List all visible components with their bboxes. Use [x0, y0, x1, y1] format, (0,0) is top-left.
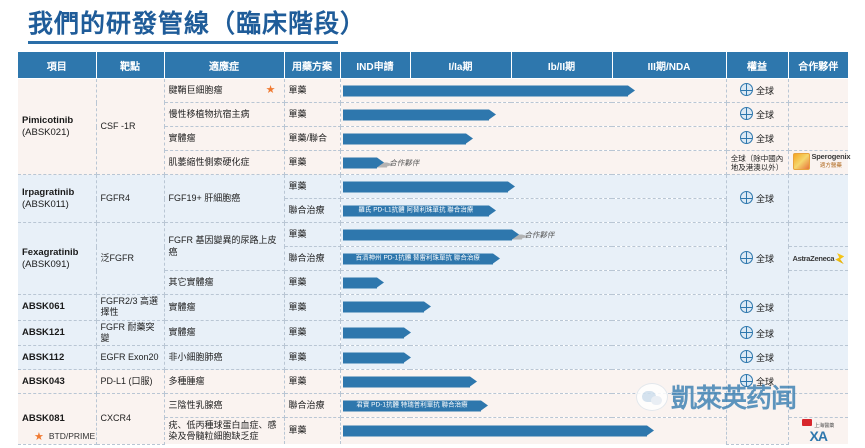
cell-regimen: 單藥 [284, 320, 340, 346]
progress-bar [343, 327, 405, 338]
col-header-phase2: Ib/II期 [511, 52, 612, 79]
table-row: Irpagratinib(ABSK011)FGFR4FGF19+ 肝細胞癌單藥全… [18, 175, 848, 199]
cell-regimen: 聯合治療 [284, 247, 340, 271]
cell-target: EGFR Exon20 [96, 346, 164, 370]
cell-target: 泛FGFR [96, 223, 164, 295]
bar-track [341, 321, 726, 346]
table-row: ABSK043PD-L1 (口服)多種腫瘤單藥全球 [18, 370, 848, 394]
cell-indication: 三陰性乳腺癌 [164, 394, 284, 418]
cell-regimen: 單藥 [284, 79, 340, 103]
cell-project: ABSK043 [18, 370, 96, 394]
btd-star-icon: ★ [266, 85, 276, 96]
bar-track [341, 103, 726, 126]
progress-bar [343, 133, 467, 144]
cell-project: Fexagratinib(ABSK091) [18, 223, 96, 295]
cell-regimen: 單藥/聯合 [284, 127, 340, 151]
rights-label: 全球 [756, 329, 774, 340]
project-name: Pimicotinib(ABSK021) [22, 115, 92, 139]
bar-track [341, 79, 726, 102]
cell-regimen: 單藥 [284, 151, 340, 175]
cell-regimen: 單藥 [284, 175, 340, 199]
cell-indication: 實體瘤 [164, 320, 284, 346]
star-icon: ★ [34, 431, 44, 443]
table-row: Pimicotinib(ABSK021)CSF -1R★腱鞘巨細胞瘤單藥全球 [18, 79, 848, 103]
project-name: ABSK043 [22, 376, 65, 387]
col-header-target: 靶點 [96, 52, 164, 79]
rights-label: 全球（除中國內地及港澳以外） [731, 154, 784, 172]
cell-rights: 全球 [726, 223, 788, 295]
bar-track: 百濟神州 PD-1抗體 替雷利珠單抗 聯合治療 [341, 247, 726, 270]
bar-track [341, 127, 726, 150]
globe-icon [740, 326, 753, 339]
partner-logo-spero: Sperogenix適方醫藥 [793, 152, 851, 170]
cell-phase-bar: 羅氏 PD-L1抗體 阿替利珠單抗 聯合治療 [340, 199, 726, 223]
project-name: ABSK112 [22, 352, 64, 363]
progress-bar [343, 277, 378, 288]
globe-icon [740, 107, 753, 120]
cell-project: ABSK121 [18, 320, 96, 346]
cell-phase-bar: 合作夥伴 [340, 151, 726, 175]
bar-track [341, 370, 726, 393]
table-row: ABSK112EGFR Exon20非小細胞肺癌單藥全球 [18, 346, 848, 370]
progress-bar [343, 109, 490, 120]
cell-rights: 全球 [726, 127, 788, 151]
bar-note: 合作夥伴 [389, 158, 419, 167]
pipeline-table-body: Pimicotinib(ABSK021)CSF -1R★腱鞘巨細胞瘤單藥全球慢性… [18, 79, 848, 445]
cell-partner: Sperogenix適方醫藥 [788, 151, 848, 175]
cell-phase-bar [340, 271, 726, 295]
cell-indication: 疣、低丙種球蛋白血症、感染及骨髓粒細胞缺乏症 [164, 418, 284, 445]
cell-rights: 全球 [726, 103, 788, 127]
cell-rights: 全球 [726, 79, 788, 103]
project-name: Irpagratinib(ABSK011) [22, 187, 92, 211]
rights-label: 全球 [756, 194, 774, 205]
col-header-rights: 權益 [726, 52, 788, 79]
cell-project: Irpagratinib(ABSK011) [18, 175, 96, 223]
progress-bar [343, 352, 405, 363]
progress-bar [343, 376, 470, 387]
cell-phase-bar [340, 370, 726, 394]
col-header-regimen: 用藥方案 [284, 52, 340, 79]
globe-icon [740, 131, 753, 144]
footnote-label: BTD/PRIME [49, 431, 95, 441]
cell-rights: 全球 [726, 175, 788, 223]
cell-regimen: 單藥 [284, 271, 340, 295]
cell-project: ABSK112 [18, 346, 96, 370]
table-row: ABSK061FGFR2/3 高選擇性實體瘤單藥全球 [18, 295, 848, 321]
progress-bar: 羅氏 PD-L1抗體 阿替利珠單抗 聯合治療 [343, 205, 490, 216]
col-header-partner: 合作夥伴 [788, 52, 848, 79]
cell-partner: AstraZeneca [788, 247, 848, 271]
bar-track: 君實 PD-1抗體 特瑞普利單抗 聯合治療 [341, 394, 726, 417]
bar-label: 君實 PD-1抗體 特瑞普利單抗 聯合治療 [343, 401, 482, 409]
partner-logo-astrazeneca: AstraZeneca [793, 253, 845, 264]
bar-track [341, 271, 726, 294]
cell-partner [788, 394, 848, 418]
bar-track [341, 346, 726, 369]
globe-icon [740, 83, 753, 96]
cell-indication: 多種腫瘤 [164, 370, 284, 394]
cell-partner [788, 79, 848, 103]
cell-phase-bar [340, 320, 726, 346]
cell-phase-bar [340, 175, 726, 199]
cell-phase-bar [340, 79, 726, 103]
cell-phase-bar [340, 127, 726, 151]
cell-target: CSF -1R [96, 79, 164, 175]
cell-project: Pimicotinib(ABSK021) [18, 79, 96, 175]
cell-indication: 肌萎縮性側索硬化症 [164, 151, 284, 175]
cell-regimen: 單藥 [284, 223, 340, 247]
project-code: (ABSK011) [22, 199, 92, 211]
cell-target: CXCR4 [96, 394, 164, 445]
cell-regimen: 聯合治療 [284, 394, 340, 418]
globe-icon [740, 300, 753, 313]
rights-label: 全球 [756, 110, 774, 121]
rights-label: 全球 [756, 254, 774, 265]
cell-indication: ★腱鞘巨細胞瘤 [164, 79, 284, 103]
flag-icon [802, 419, 812, 426]
spero-mark-icon [793, 153, 810, 170]
progress-bar [343, 157, 378, 168]
partner-logo-xa: 上海醫藥XA [802, 419, 834, 443]
col-header-ind: IND申請 [340, 52, 410, 79]
cell-target: FGFR 耐藥突變 [96, 320, 164, 346]
rights-label: 全球 [756, 377, 774, 388]
progress-bar: 百濟神州 PD-1抗體 替雷利珠單抗 聯合治療 [343, 253, 494, 264]
cell-partner [788, 271, 848, 295]
progress-bar [343, 229, 513, 240]
cell-rights: 全球（除中國內地及港澳以外） [726, 151, 788, 175]
table-header-row: 項目 靶點 適應症 用藥方案 IND申請 I/Ia期 Ib/II期 III期/N… [18, 52, 848, 79]
cell-phase-bar [340, 418, 726, 445]
pipeline-table: 項目 靶點 適應症 用藥方案 IND申請 I/Ia期 Ib/II期 III期/N… [18, 52, 848, 445]
globe-icon [740, 374, 753, 387]
pipeline-slide: 我們的研發管線（臨床階段） 項目 靶點 適應症 用藥方案 IND申請 I/Ia期… [0, 0, 865, 448]
globe-icon [740, 191, 753, 204]
col-header-indication: 適應症 [164, 52, 284, 79]
bar-track: 合作夥伴 [341, 151, 726, 174]
cell-partner [788, 320, 848, 346]
cell-indication: 慢性移植物抗宿主病 [164, 103, 284, 127]
cell-indication: 非小細胞肺癌 [164, 346, 284, 370]
cell-phase-bar [340, 346, 726, 370]
cell-partner [788, 370, 848, 394]
cell-phase-bar: 君實 PD-1抗體 特瑞普利單抗 聯合治療 [340, 394, 726, 418]
cell-indication: 實體瘤 [164, 127, 284, 151]
project-name: ABSK061 [22, 301, 65, 312]
bar-track [341, 175, 726, 198]
cell-partner [788, 223, 848, 247]
cell-partner [788, 103, 848, 127]
cell-partner [788, 127, 848, 151]
astrazeneca-swoosh-icon [835, 253, 844, 264]
rights-label: 全球 [756, 134, 774, 145]
col-header-project: 項目 [18, 52, 96, 79]
cell-target: FGFR2/3 高選擇性 [96, 295, 164, 321]
col-header-phase3: III期/NDA [612, 52, 726, 79]
project-name: Fexagratinib(ABSK091) [22, 247, 92, 271]
cell-rights: 全球 [726, 346, 788, 370]
progress-bar [343, 302, 424, 313]
cell-regimen: 單藥 [284, 103, 340, 127]
cell-indication: 其它實體瘤 [164, 271, 284, 295]
cell-regimen: 聯合治療 [284, 199, 340, 223]
cell-rights: 全球 [726, 295, 788, 321]
rights-label: 全球 [756, 303, 774, 314]
cell-phase-bar [340, 103, 726, 127]
cell-partner [788, 175, 848, 223]
col-header-phase1: I/Ia期 [410, 52, 511, 79]
project-code: (ABSK021) [22, 127, 92, 139]
globe-icon [740, 350, 753, 363]
project-name: ABSK081 [22, 413, 65, 424]
cell-project: ABSK061 [18, 295, 96, 321]
cell-phase-bar: 百濟神州 PD-1抗體 替雷利珠單抗 聯合治療 [340, 247, 726, 271]
cell-regimen: 單藥 [284, 295, 340, 321]
cell-rights [726, 394, 788, 445]
project-name: ABSK121 [22, 327, 65, 338]
bar-track [341, 295, 726, 320]
progress-bar: 君實 PD-1抗體 特瑞普利單抗 聯合治療 [343, 400, 482, 411]
bar-track: 羅氏 PD-L1抗體 阿替利珠單抗 聯合治療 [341, 199, 726, 222]
cell-regimen: 單藥 [284, 370, 340, 394]
cell-partner: 上海醫藥XA [788, 418, 848, 445]
project-code: (ABSK091) [22, 259, 92, 271]
cell-partner [788, 346, 848, 370]
cell-indication: 實體瘤 [164, 295, 284, 321]
cell-partner [788, 295, 848, 321]
title-divider [28, 41, 338, 44]
cell-indication: FGF19+ 肝細胞癌 [164, 175, 284, 223]
cell-indication: FGFR 基因變異的尿路上皮癌 [164, 223, 284, 271]
cell-regimen: 單藥 [284, 346, 340, 370]
cell-rights: 全球 [726, 370, 788, 394]
table-row: Fexagratinib(ABSK091)泛FGFRFGFR 基因變異的尿路上皮… [18, 223, 848, 247]
cell-regimen: 單藥 [284, 418, 340, 445]
rights-label: 全球 [756, 86, 774, 97]
cell-rights: 全球 [726, 320, 788, 346]
cell-phase-bar: 合作夥伴 [340, 223, 726, 247]
bar-track: 合作夥伴 [341, 223, 726, 246]
bar-label: 百濟神州 PD-1抗體 替雷利珠單抗 聯合治療 [343, 254, 494, 262]
progress-bar [343, 181, 509, 192]
bar-note: 合作夥伴 [524, 230, 554, 239]
cell-phase-bar [340, 295, 726, 321]
page-title: 我們的研發管線（臨床階段） [28, 4, 366, 40]
cell-target: FGFR4 [96, 175, 164, 223]
table-row: ABSK081CXCR4三陰性乳腺癌聯合治療君實 PD-1抗體 特瑞普利單抗 聯… [18, 394, 848, 418]
bar-track [341, 418, 726, 444]
bar-label: 羅氏 PD-L1抗體 阿替利珠單抗 聯合治療 [343, 206, 490, 214]
rights-label: 全球 [756, 353, 774, 364]
table-row: ABSK121FGFR 耐藥突變實體瘤單藥全球 [18, 320, 848, 346]
footnote: ★BTD/PRIME [34, 430, 95, 443]
progress-bar [343, 426, 648, 437]
globe-icon [740, 251, 753, 264]
progress-bar [343, 85, 629, 96]
cell-target: PD-L1 (口服) [96, 370, 164, 394]
